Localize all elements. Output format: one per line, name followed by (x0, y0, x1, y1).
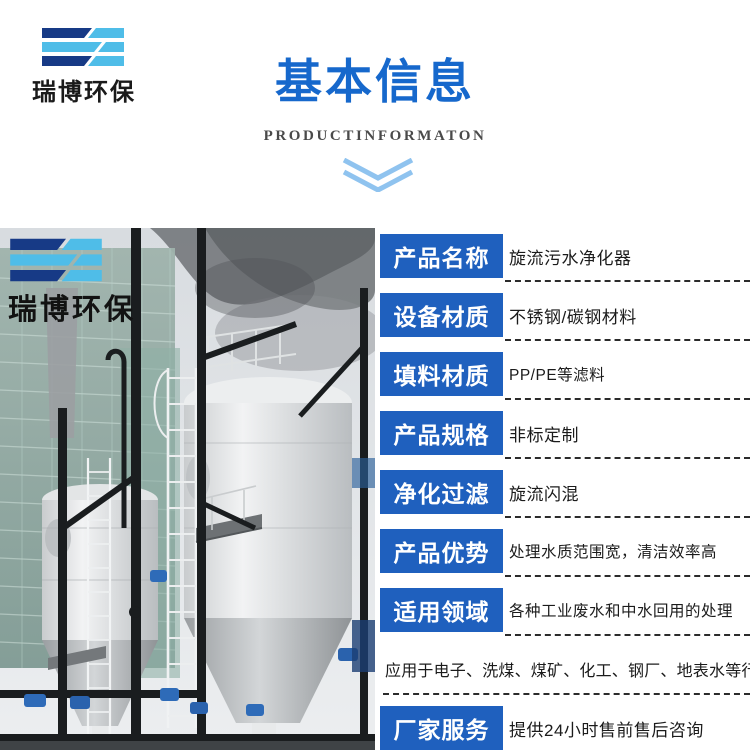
row-divider (383, 693, 750, 695)
chevron-down-icon (338, 158, 418, 192)
spec-label: 填料材质 (380, 352, 503, 396)
product-photo: 瑞博环保 (0, 228, 375, 750)
row-divider (505, 575, 750, 577)
spec-value: 旋流闪混 (509, 470, 579, 514)
spec-value: 非标定制 (509, 411, 579, 455)
table-row: 厂家服务 提供24小时售前售后咨询 (375, 700, 750, 750)
spec-value: 处理水质范围宽，清洁效率高 (509, 529, 717, 573)
table-row: 产品规格 非标定制 (375, 405, 750, 471)
row-divider (505, 339, 750, 341)
spec-value: 不锈钢/碳钢材料 (509, 293, 637, 337)
spec-label: 设备材质 (380, 293, 503, 337)
table-row: 设备材质 不锈钢/碳钢材料 (375, 287, 750, 353)
spec-label: 厂家服务 (380, 706, 503, 750)
table-row: 应用于电子、洗煤、煤矿、化工、钢厂、地表水等行业 (375, 641, 750, 707)
page-title: 基本信息 (255, 58, 495, 105)
table-row: 净化过滤 旋流闪混 (375, 464, 750, 530)
watermark-text: 瑞博环保 (8, 286, 168, 328)
watermark-logo-mark-icon (44, 236, 140, 284)
spec-label: 产品规格 (380, 411, 503, 455)
brand-logo: 瑞博环保 (22, 26, 162, 106)
product-information-page: 瑞博环保 基本信息 PRODUCTINFORMATON (0, 0, 750, 750)
spec-value: 应用于电子、洗煤、煤矿、化工、钢厂、地表水等行业 (385, 647, 750, 691)
page-subtitle: PRODUCTINFORMATON (255, 128, 495, 145)
spec-label: 产品优势 (380, 529, 503, 573)
row-divider (505, 634, 750, 636)
table-row: 适用领域 各种工业废水和中水回用的处理 (375, 582, 750, 648)
specification-table: 产品名称 旋流污水净化器 设备材质 不锈钢/碳钢材料 填料材质 PP/PE等滤料… (375, 228, 750, 750)
spec-value: 各种工业废水和中水回用的处理 (509, 588, 733, 632)
spec-value: PP/PE等滤料 (509, 352, 605, 396)
spec-label: 净化过滤 (380, 470, 503, 514)
spec-value: 旋流污水净化器 (509, 234, 632, 278)
spec-label: 适用领域 (380, 588, 503, 632)
row-divider (505, 457, 750, 459)
table-row: 填料材质 PP/PE等滤料 (375, 346, 750, 412)
brand-logo-text: 瑞博环保 (22, 72, 146, 107)
logo-mark-icon (40, 26, 126, 68)
table-row: 产品优势 处理水质范围宽，清洁效率高 (375, 523, 750, 589)
row-divider (505, 516, 750, 518)
page-header: 瑞博环保 基本信息 PRODUCTINFORMATON (0, 0, 750, 228)
row-divider (505, 398, 750, 400)
photo-watermark-logo: 瑞博环保 (8, 236, 168, 331)
table-row: 产品名称 旋流污水净化器 (375, 228, 750, 294)
spec-value: 提供24小时售前售后咨询 (509, 706, 704, 750)
spec-label: 产品名称 (380, 234, 503, 278)
row-divider (505, 280, 750, 282)
